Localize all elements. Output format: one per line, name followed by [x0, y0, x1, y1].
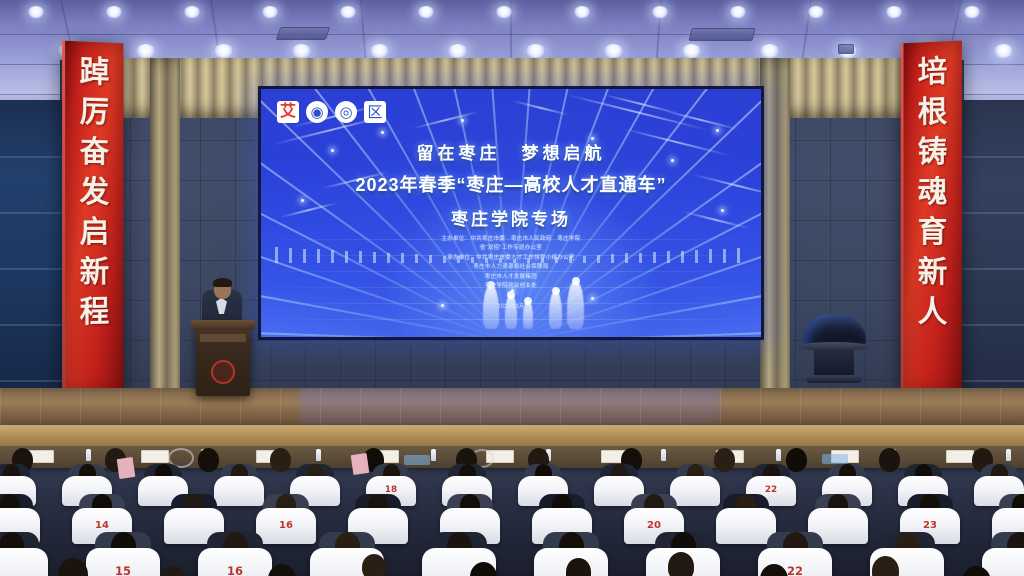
ceiling-light	[370, 44, 389, 58]
audience-chair	[214, 476, 264, 506]
logo-blue-mark: 区	[364, 101, 386, 123]
stage-floor-seam	[680, 388, 681, 430]
stage-floor-seam	[960, 388, 961, 430]
stage-floor-seam	[520, 388, 521, 430]
ceiling-light	[106, 6, 122, 18]
stage-floor	[0, 388, 1024, 430]
banner-character: 启	[80, 218, 110, 248]
stage-floor-seam	[120, 388, 121, 430]
stage-curtain-right	[760, 58, 790, 408]
screen-credit-line: 省“双招”工作专班办公室	[261, 244, 761, 253]
water-bottle	[776, 449, 781, 461]
screen-credit-line: 枣庄市人才发展集团	[261, 273, 761, 282]
audience-chair: 16	[198, 548, 272, 576]
ceiling-light	[964, 6, 980, 18]
audience-head	[879, 448, 900, 472]
stage-floor-seam	[160, 388, 161, 430]
audience-area: 18221416202315162122	[0, 446, 1024, 576]
screen-glow-dot	[716, 129, 719, 132]
stage-floor-seam	[600, 388, 601, 430]
ceiling-light	[418, 6, 434, 18]
banner-character: 厉	[80, 98, 110, 129]
banner-character: 育	[918, 218, 948, 248]
audience-chair	[670, 476, 720, 506]
water-bottle	[661, 449, 666, 461]
chair-seat-number: 14	[72, 520, 132, 531]
screen-credit-line: 枣庄学院就业创业处	[261, 282, 761, 291]
audience-chair: 15	[86, 548, 160, 576]
banner-character: 发	[80, 178, 110, 208]
auditorium-scene: 艾 ◉ ◎ 区 留在枣庄 梦想启航 2023年春季“枣庄—高校人才直通车” 枣庄…	[0, 0, 1024, 576]
stage-floor-seam	[880, 388, 881, 430]
banner-character: 魂	[918, 178, 948, 208]
banner-character: 根	[918, 97, 948, 128]
chair-seat-number: 23	[900, 520, 960, 531]
banner-character: 程	[80, 298, 110, 329]
screen-credit-line: 承办单位：中共枣庄市委人才工作领导小组办公室	[261, 254, 761, 263]
banner-character: 新	[80, 258, 110, 288]
right-red-banner: 培根铸魂育新人	[901, 41, 962, 396]
audience-head-foreground	[58, 558, 88, 576]
desk-monitor-glow	[404, 455, 430, 465]
audience-chair	[0, 548, 48, 576]
stage-floor-seam	[800, 388, 801, 430]
audience-head-foreground	[668, 552, 694, 576]
screen-title-block: 留在枣庄 梦想启航 2023年春季“枣庄—高校人才直通车” 枣庄学院专场	[261, 139, 761, 230]
podium	[196, 326, 250, 396]
audience-head-foreground	[268, 564, 296, 576]
chair-seat-number: 15	[86, 564, 160, 576]
stage-floor-seam	[1000, 388, 1001, 430]
stage-floor-seam	[320, 388, 321, 430]
logo-red-square: 艾	[277, 101, 299, 123]
screen-credit-line: 枣庄市人力资源和社会保障局	[261, 263, 761, 272]
ceiling-hvac-vent	[688, 28, 755, 41]
held-paper	[117, 457, 136, 479]
stage-floor-seam	[480, 388, 481, 430]
water-bottle	[431, 449, 436, 461]
podium-emblem	[211, 360, 235, 384]
logo-circle-emblem-2: ◎	[335, 101, 357, 123]
ceiling-light	[28, 6, 44, 18]
stage-floor-seam	[560, 388, 561, 430]
audience-head	[270, 448, 291, 472]
screen-logo-row: 艾 ◉ ◎ 区	[277, 101, 386, 123]
name-placard	[141, 450, 169, 463]
ceiling-light	[136, 44, 155, 58]
speaker-hair	[213, 278, 232, 287]
stage-floor-seam	[80, 388, 81, 430]
ceiling-light	[574, 6, 590, 18]
audience-head-foreground	[362, 554, 386, 576]
ceiling-light	[340, 6, 356, 18]
stage-floor-seam	[40, 388, 41, 430]
dome-base	[814, 349, 854, 377]
audience-head	[714, 448, 735, 472]
screen-glow-dot	[381, 131, 384, 134]
name-placard	[946, 450, 974, 463]
audience-head	[198, 448, 219, 472]
ceiling-light	[262, 6, 278, 18]
stage-floor-seam	[400, 388, 401, 430]
ceiling-light	[496, 6, 512, 18]
stage-floor-seam	[640, 388, 641, 430]
banner-character: 铸	[918, 138, 948, 169]
podium-name-plate	[200, 334, 246, 342]
desk-monitor-glow	[822, 454, 848, 464]
ceiling-light	[214, 44, 233, 58]
water-bottle	[86, 449, 91, 461]
banner-character: 培	[918, 57, 948, 88]
logo-circle-emblem-1: ◉	[306, 101, 328, 123]
led-screen: 艾 ◉ ◎ 区 留在枣庄 梦想启航 2023年春季“枣庄—高校人才直通车” 枣庄…	[258, 86, 764, 340]
podium-top	[191, 320, 255, 330]
stage-curtain-left	[150, 58, 180, 408]
stage-floor-reflection	[300, 388, 720, 430]
ceiling-light	[682, 44, 701, 58]
water-bottle	[316, 449, 321, 461]
ceiling-light	[652, 6, 668, 18]
screen-title-line-3: 枣庄学院专场	[261, 205, 761, 230]
stage-floor-seam	[280, 388, 281, 430]
chair-seat-number: 20	[624, 520, 684, 531]
audience-head	[786, 448, 807, 472]
stage-dome-light	[798, 312, 870, 386]
screen-credit-line: 主办单位：中共枣庄市委 枣庄市人民政府 枣庄学院	[261, 235, 761, 244]
screen-credits-block: 主办单位：中共枣庄市委 枣庄市人民政府 枣庄学院省“双招”工作专班办公室承办单位…	[261, 235, 761, 311]
ceiling-light	[886, 6, 902, 18]
ceiling-light	[448, 44, 467, 58]
screen-title-line-2: 2023年春季“枣庄—高校人才直通车”	[261, 171, 761, 197]
left-red-banner: 踔厉奋发启新程	[62, 41, 123, 396]
chair-seat-number: 16	[198, 564, 272, 576]
stage-floor-seam	[440, 388, 441, 430]
ceiling-light	[730, 6, 746, 18]
ceiling-sensor	[838, 44, 854, 54]
stage-edge	[0, 425, 1024, 448]
stage-floor-seam	[840, 388, 841, 430]
banner-character: 人	[918, 298, 948, 329]
ceiling-light	[808, 6, 824, 18]
ceiling-light	[994, 44, 1013, 58]
ceiling-light	[184, 6, 200, 18]
screen-credit-date: 2023年3月	[261, 303, 761, 312]
ceiling-light	[760, 44, 779, 58]
water-bottle	[1006, 449, 1011, 461]
audience-chair: 16	[256, 508, 316, 544]
stage-floor-seam	[360, 388, 361, 430]
banner-character: 奋	[80, 138, 110, 168]
stage-floor-seam	[0, 388, 1, 430]
ceiling-hvac-vent	[276, 27, 331, 40]
screen-glow-dot	[461, 119, 464, 122]
stage-floor-seam	[920, 388, 921, 430]
audience-head-foreground	[160, 566, 186, 576]
banner-character: 踔	[80, 57, 110, 88]
stage-floor-seam	[760, 388, 761, 430]
screen-title-line-1: 留在枣庄 梦想启航	[261, 139, 761, 164]
ceiling-light	[292, 44, 311, 58]
ceiling-light	[604, 44, 623, 58]
chair-seat-number: 16	[256, 520, 316, 531]
stage-floor-seam	[720, 388, 721, 430]
banner-character: 新	[918, 258, 948, 288]
dome-foot	[806, 375, 862, 383]
held-paper	[351, 453, 370, 475]
ceiling-light	[526, 44, 545, 58]
ceiling-panel-line	[0, 34, 1024, 35]
